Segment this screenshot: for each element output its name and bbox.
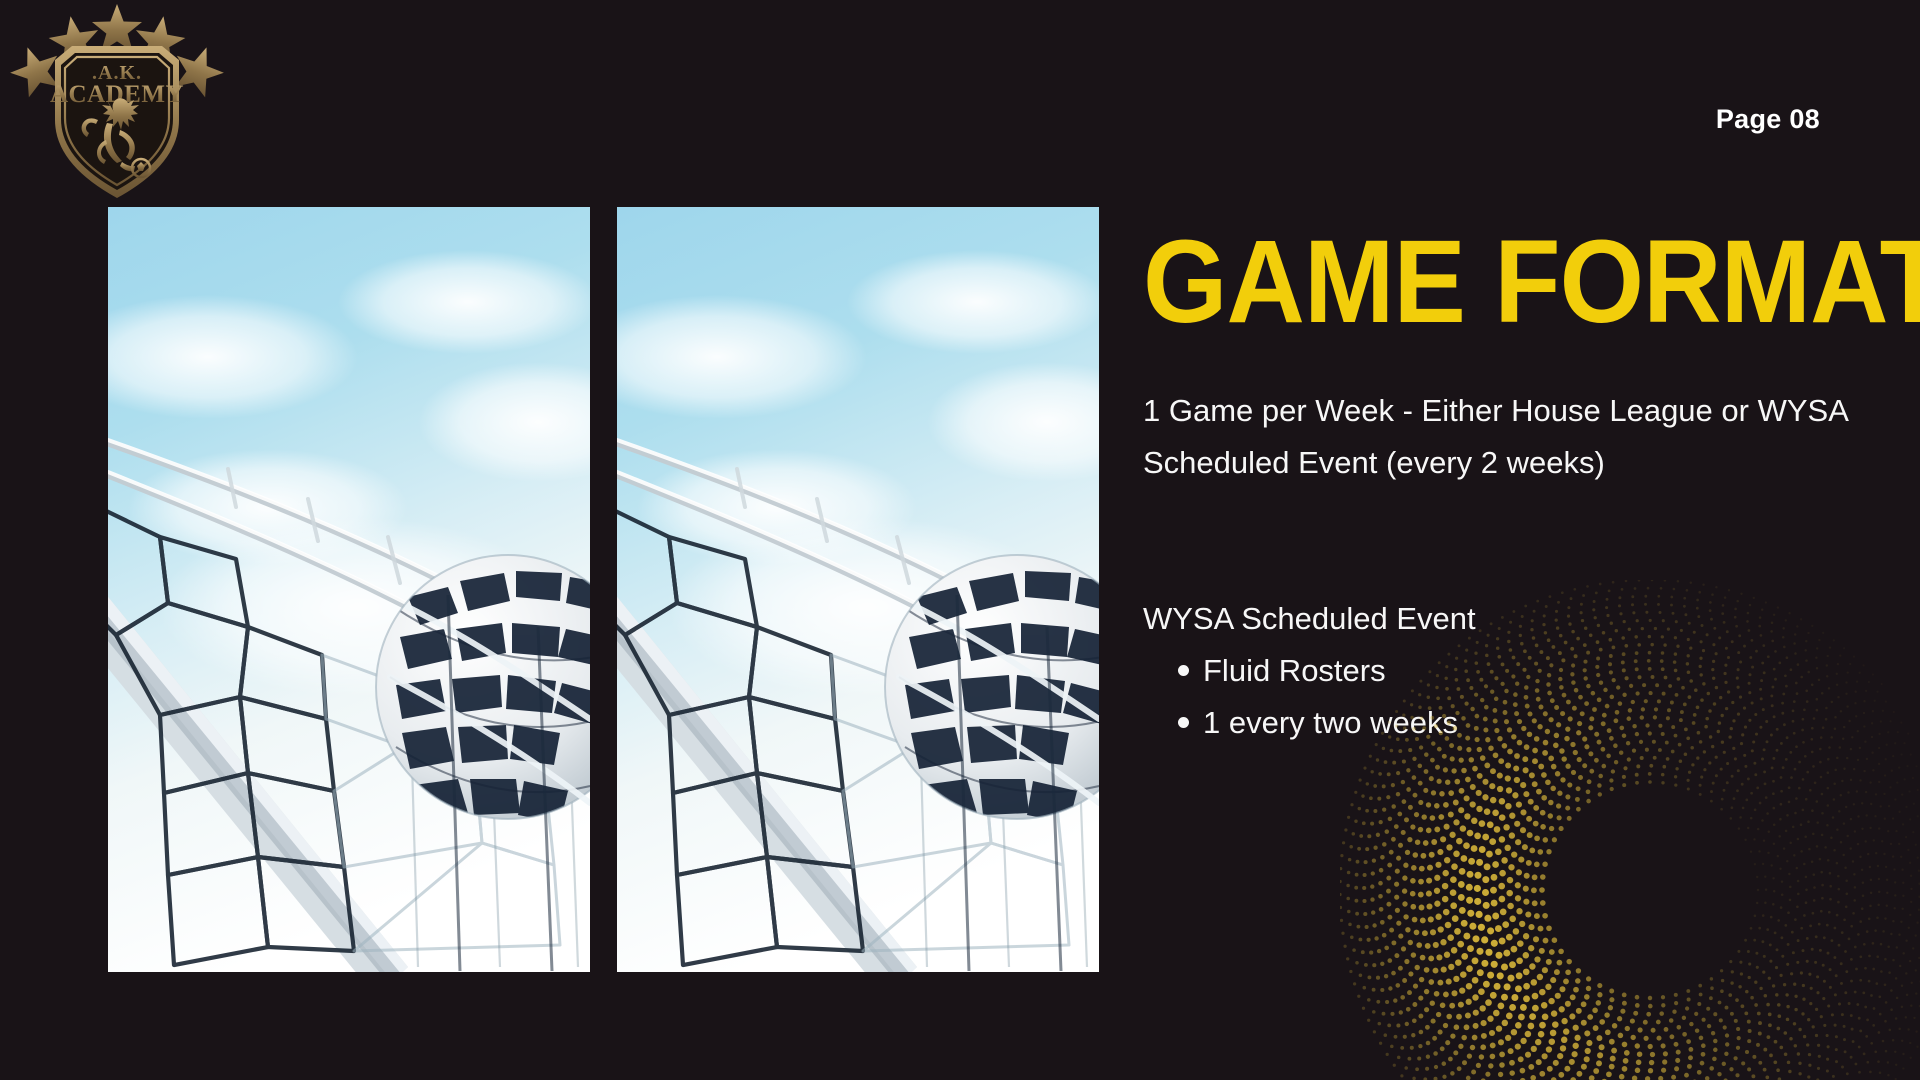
slide-canvas: .A.K. ACADEMY Page 08 <box>0 0 1920 1080</box>
list-item-label: 1 every two weeks <box>1203 705 1458 740</box>
photo-panel-right <box>617 207 1099 972</box>
bullet-dot-icon <box>1178 665 1189 676</box>
ak-academy-logo: .A.K. ACADEMY <box>10 2 225 202</box>
bullet-list: Fluid Rosters 1 every two weeks <box>1143 645 1843 749</box>
list-item-label: Fluid Rosters <box>1203 653 1386 688</box>
page-title: GAME FORMAT <box>1143 234 1920 331</box>
soccer-net-photo <box>617 207 1099 972</box>
soccer-net-photo <box>108 207 590 972</box>
bullet-dot-icon <box>1178 717 1189 728</box>
body-paragraph: 1 Game per Week - Either House League or… <box>1143 385 1878 489</box>
page-number-label: Page 08 <box>1716 104 1820 135</box>
list-item: 1 every two weeks <box>1143 697 1843 749</box>
list-item: Fluid Rosters <box>1143 645 1843 697</box>
photo-panel-left <box>108 207 590 972</box>
subsection-heading: WYSA Scheduled Event <box>1143 593 1476 645</box>
